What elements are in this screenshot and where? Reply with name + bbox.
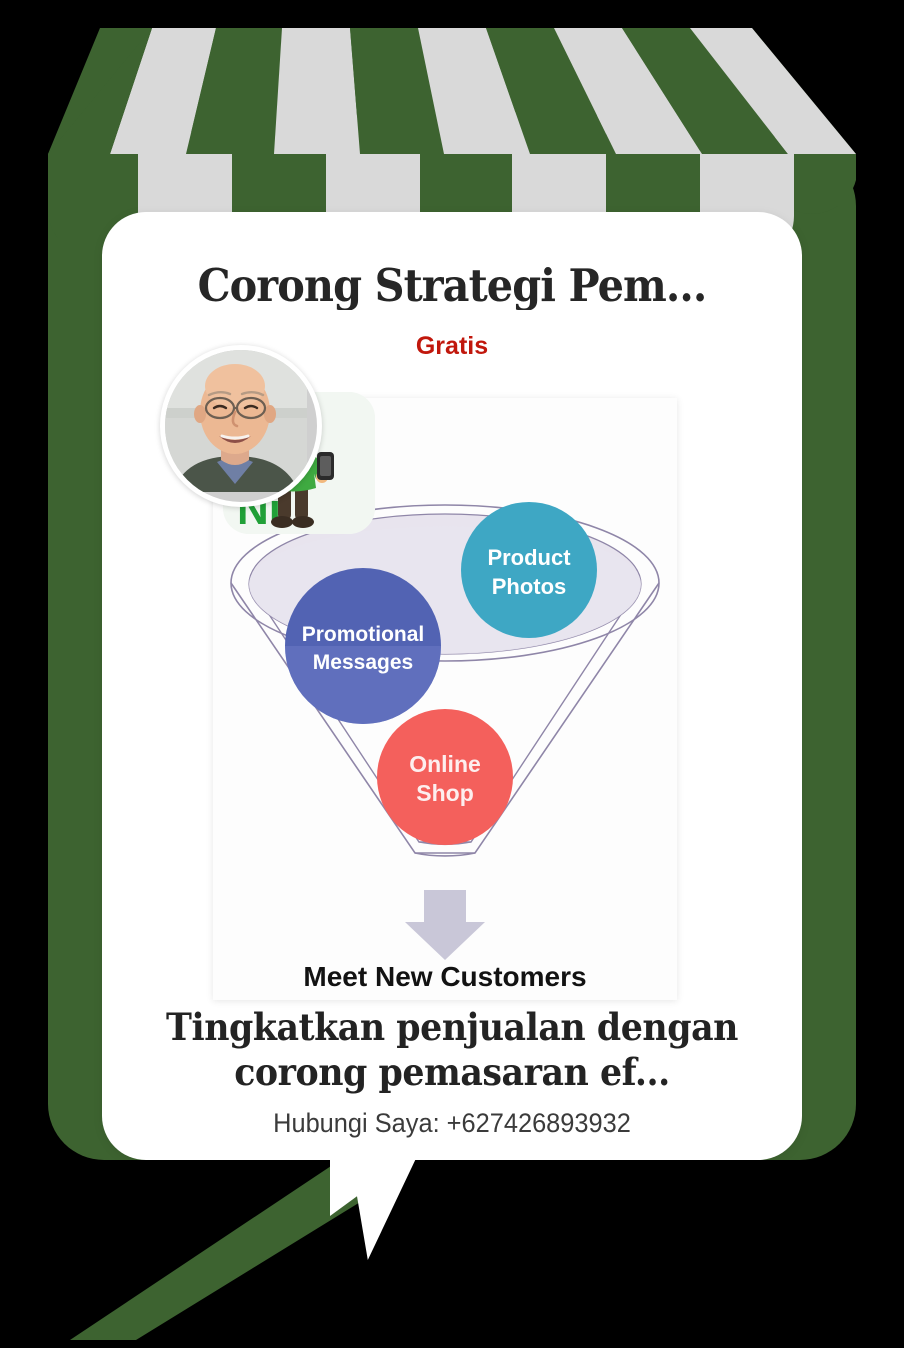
funnel-node-label: Promotional xyxy=(302,623,425,646)
funnel-node-online-shop: Online Shop xyxy=(377,709,513,845)
content-card-tail xyxy=(330,1150,420,1260)
awning-canopy xyxy=(0,28,904,238)
down-arrow-icon xyxy=(405,890,485,960)
avatar xyxy=(160,345,322,507)
speech-bubble-tail xyxy=(70,1140,370,1340)
funnel-node-label: Online xyxy=(409,751,481,777)
funnel-node-product-photos: Product Photos xyxy=(461,502,597,638)
contact-text: Hubungi Saya: +627426893932 xyxy=(140,1108,764,1139)
funnel-node-label: Messages xyxy=(313,651,413,674)
headline-text: Tingkatkan penjualan dengan corong pemas… xyxy=(140,1005,764,1095)
funnel-node-label: Shop xyxy=(416,780,474,806)
page-title: Corong Strategi Pem... xyxy=(130,262,774,310)
profile-photo xyxy=(165,350,307,492)
funnel-node-label: Product xyxy=(487,545,571,570)
awning-stripes xyxy=(40,28,856,238)
funnel-node-label: Photos xyxy=(492,574,567,599)
funnel-node-promotional-messages: Promotional Messages xyxy=(285,568,441,724)
awning-svg xyxy=(0,28,904,238)
poster-canvas: Corong Strategi Pem... Gratis Promotiona… xyxy=(0,0,904,1348)
funnel-outcome-label: Meet New Customers xyxy=(303,961,586,992)
